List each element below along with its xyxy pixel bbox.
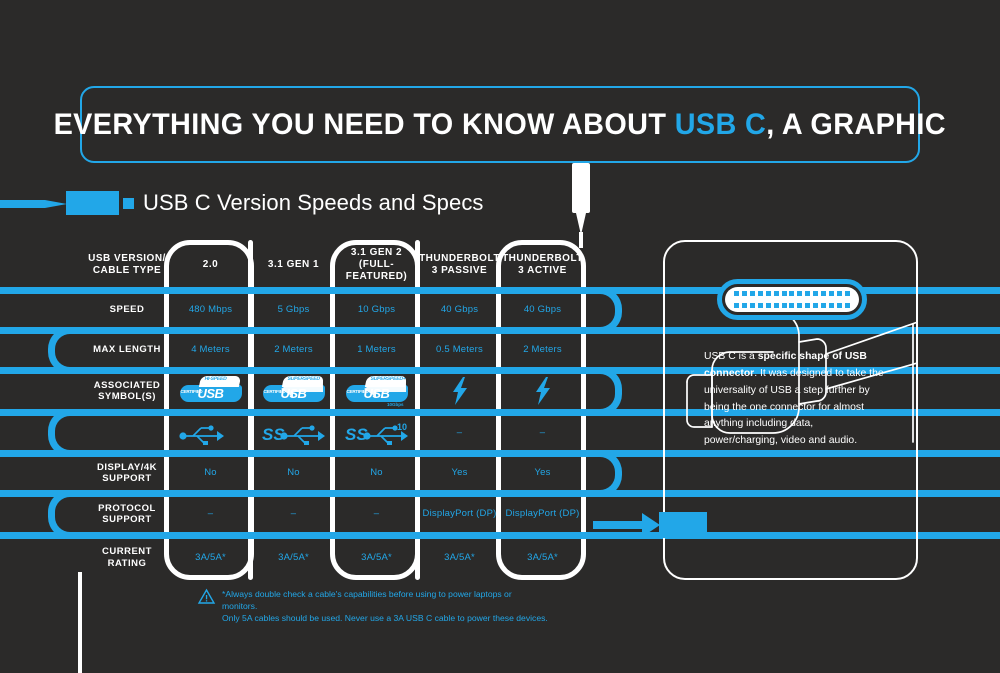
cell-value-6-1-line: 3A/5A*: [278, 552, 309, 563]
footnote: *Always double check a cable's capabilit…: [198, 588, 548, 625]
cell-value-4-2-line: No: [370, 467, 383, 478]
logo-wordmark: USB: [198, 386, 224, 401]
cell-value-5-4-line: DisplayPort (DP): [506, 508, 580, 519]
cell-value-1-3-line: 0.5 Meters: [436, 344, 483, 355]
logo-arrow: [346, 380, 408, 402]
row-header-4-line: SUPPORT: [102, 473, 151, 484]
cell-value-4-0: No: [169, 453, 252, 493]
row-header-2-line: SYMBOL(S): [98, 391, 156, 402]
cell-value-1-0-line: 4 Meters: [191, 344, 230, 355]
trident-svg: SS: [260, 421, 328, 445]
row-header-5-line: PROTOCOL: [98, 503, 156, 514]
cell-symbol-1: SUPERSPEEDCERTIFIEDUSB: [252, 370, 335, 412]
cell-value-6-0: 3A/5A*: [169, 535, 252, 580]
usb-c-port-pins-bottom: [734, 303, 850, 308]
usb-c-pin: [734, 291, 739, 296]
usb-c-pin: [774, 303, 779, 308]
usb-c-pin: [805, 291, 810, 296]
usb-c-pin: [774, 291, 779, 296]
column-header-0-line: 2.0: [203, 259, 218, 271]
cell-symbol-2: SUPERSPEED+CERTIFIEDUSB10Gbps: [335, 370, 418, 412]
cell-value-4-1: No: [252, 453, 335, 493]
cable-loop-right: [582, 450, 622, 497]
cell-value-6-0-line: 3A/5A*: [195, 552, 226, 563]
row-header-3: [85, 412, 169, 453]
cable-wire-icon: [0, 200, 45, 208]
cell-value-0-1: 5 Gbps: [252, 290, 335, 330]
column-header-3: THUNDERBOLT3 PASSIVE: [418, 240, 501, 290]
cell-value-5-3-line: DisplayPort (DP): [423, 508, 497, 519]
page-title: EVERYTHING YOU NEED TO KNOW ABOUT USB C,…: [54, 108, 946, 142]
cell-value-6-2: 3A/5A*: [335, 535, 418, 580]
row-header-5-line: SUPPORT: [102, 514, 151, 525]
usb-superspeed-logo: SUPERSPEEDCERTIFIEDUSB: [263, 376, 325, 406]
row-header-2-line: ASSOCIATED: [94, 380, 161, 391]
cell-value-3-3: –: [418, 412, 501, 453]
cell-value-1-2-line: 1 Meters: [357, 344, 396, 355]
logo-arrow: [263, 380, 325, 402]
bolt-svg: [533, 377, 553, 405]
cell-value-4-1-line: No: [287, 467, 300, 478]
cable-loop-left: [48, 409, 88, 457]
title-highlight-usb-c: USB C: [675, 108, 767, 141]
cable-taper-icon: [45, 200, 67, 208]
panel-cable-taper-icon: [642, 513, 660, 537]
cable-loop-right: [582, 287, 622, 334]
row-header-5: PROTOCOLSUPPORT: [85, 493, 169, 535]
cable-plug-icon: [66, 191, 119, 215]
column-header-0: 2.0: [169, 240, 252, 290]
column-header-4: THUNDERBOLT3 ACTIVE: [501, 240, 584, 290]
cell-value-5-1: –: [252, 493, 335, 535]
cell-value-0-4-line: 40 Gbps: [524, 304, 561, 315]
cell-symbol-0: HI-SPEEDCERTIFIEDUSB: [169, 370, 252, 412]
bottom-left-cable-wire-icon: [78, 572, 82, 673]
usb-ss-trident-icon: SS: [252, 412, 335, 453]
svg-text:10: 10: [397, 422, 407, 432]
usb-c-pin: [789, 291, 794, 296]
usb-c-pin: [813, 291, 818, 296]
thunderbolt-bolt-icon: [501, 370, 584, 412]
usb-hispeed-certified-logo: HI-SPEEDCERTIFIEDUSB: [180, 376, 242, 406]
cell-value-0-3: 40 Gbps: [418, 290, 501, 330]
panel-cable-plug-icon: [659, 512, 707, 538]
column-header-3-line: THUNDERBOLT: [419, 253, 500, 265]
desc-part-2: . It was designed to take the universali…: [704, 368, 884, 446]
cell-value-4-4-line: Yes: [534, 467, 550, 478]
trident-svg: SS10: [343, 421, 411, 445]
usb-c-pin: [805, 303, 810, 308]
usb-c-pin: [813, 303, 818, 308]
panel-cable-wire-icon: [593, 521, 643, 529]
usb-c-pin: [821, 291, 826, 296]
title-part-before: EVERYTHING YOU NEED TO KNOW ABOUT: [54, 108, 675, 141]
row-header-2: ASSOCIATEDSYMBOL(S): [85, 370, 169, 412]
top-cable-plug-icon: [572, 163, 590, 213]
section-heading: USB C Version Speeds and Specs: [0, 183, 484, 223]
usb-c-pin: [750, 291, 755, 296]
row-header-0-line: SPEED: [110, 304, 145, 315]
cell-value-6-3: 3A/5A*: [418, 535, 501, 580]
usb-c-pin: [758, 303, 763, 308]
desc-part-1: USB C is a: [704, 351, 758, 362]
table-corner-header-line: USB VERSION/: [88, 253, 166, 265]
cell-value-4-4: Yes: [501, 453, 584, 493]
column-header-2-line: (FULL-FEATURED): [335, 259, 418, 283]
row-header-6-line: RATING: [108, 558, 147, 569]
usb-c-pin: [782, 303, 787, 308]
usb-trident-icon: [169, 412, 252, 453]
column-header-1-line: 3.1 GEN 1: [268, 259, 319, 271]
row-header-1-line: MAX LENGTH: [93, 344, 161, 355]
usb-c-pin: [829, 303, 834, 308]
specs-table: USB VERSION/CABLE TYPE2.03.1 GEN 13.1 GE…: [85, 240, 615, 580]
cell-value-6-4-line: 3A/5A*: [527, 552, 558, 563]
logo-sub-text: 10Gbps: [387, 402, 404, 407]
usb-c-pin: [750, 303, 755, 308]
usb-c-pin: [821, 303, 826, 308]
cell-value-5-3: DisplayPort (DP): [418, 493, 501, 535]
cell-value-4-3: Yes: [418, 453, 501, 493]
title-banner: EVERYTHING YOU NEED TO KNOW ABOUT USB C,…: [80, 86, 920, 163]
trident-svg: [177, 421, 245, 445]
column-header-4-line: THUNDERBOLT: [502, 253, 583, 265]
footnote-line-1: *Always double check a cable's capabilit…: [222, 589, 512, 611]
usb-c-pin: [734, 303, 739, 308]
usb-c-pin: [766, 303, 771, 308]
row-header-1: MAX LENGTH: [85, 330, 169, 370]
usb-superspeed-10gbps-logo: SUPERSPEED+CERTIFIEDUSB10Gbps: [346, 376, 408, 406]
footnote-text: *Always double check a cable's capabilit…: [222, 588, 548, 625]
row-header-6-line: CURRENT: [102, 546, 152, 557]
cable-loop-right: [582, 367, 622, 416]
cell-value-6-4: 3A/5A*: [501, 535, 584, 580]
column-header-2-line: 3.1 GEN 2: [351, 247, 402, 259]
usb-c-pin: [766, 291, 771, 296]
cell-value-5-1-line: –: [291, 508, 296, 519]
row-header-0: SPEED: [85, 290, 169, 330]
warning-triangle-icon: [198, 589, 215, 604]
cell-value-0-1-line: 5 Gbps: [278, 304, 310, 315]
row-header-4-line: DISPLAY/4K: [97, 462, 157, 473]
usb-c-pin: [845, 303, 850, 308]
usb-c-pin: [845, 291, 850, 296]
usb-c-pin: [789, 303, 794, 308]
cell-value-4-0-line: No: [204, 467, 217, 478]
cell-value-6-2-line: 3A/5A*: [361, 552, 392, 563]
usb-c-pin: [742, 291, 747, 296]
row-header-4: DISPLAY/4KSUPPORT: [85, 453, 169, 493]
cell-value-3-4-line: –: [540, 427, 545, 438]
usb-c-pin: [782, 291, 787, 296]
cell-value-4-3-line: Yes: [451, 467, 467, 478]
row-header-6: CURRENTRATING: [85, 535, 169, 580]
cell-value-3-4: –: [501, 412, 584, 453]
cell-value-5-4: DisplayPort (DP): [501, 493, 584, 535]
logo-banner-text: HI-SPEED: [203, 377, 226, 383]
cell-value-5-2: –: [335, 493, 418, 535]
cell-value-0-3-line: 40 Gbps: [441, 304, 478, 315]
cell-value-5-2-line: –: [374, 508, 379, 519]
cell-value-5-0-line: –: [208, 508, 213, 519]
cable-tip-icon: [123, 198, 134, 209]
cell-value-1-3: 0.5 Meters: [418, 330, 501, 370]
cell-value-6-1: 3A/5A*: [252, 535, 335, 580]
column-header-2: 3.1 GEN 2(FULL-FEATURED): [335, 240, 418, 290]
usb-c-pin: [797, 291, 802, 296]
panel-description: USB C is a specific shape of USB connect…: [704, 349, 889, 450]
column-header-4-line: 3 ACTIVE: [518, 265, 567, 277]
cell-value-1-1-line: 2 Meters: [274, 344, 313, 355]
usb-c-port-pins-top: [734, 291, 850, 296]
cell-value-1-4-line: 2 Meters: [523, 344, 562, 355]
usb-c-pin: [829, 291, 834, 296]
cell-value-1-2: 1 Meters: [335, 330, 418, 370]
cell-value-6-3-line: 3A/5A*: [444, 552, 475, 563]
usb-c-pin: [742, 303, 747, 308]
cell-value-0-0-line: 480 Mbps: [189, 304, 232, 315]
cell-value-0-0: 480 Mbps: [169, 290, 252, 330]
cell-value-1-1: 2 Meters: [252, 330, 335, 370]
cell-value-5-0: –: [169, 493, 252, 535]
cell-value-3-3-line: –: [457, 427, 462, 438]
usb-c-pin: [797, 303, 802, 308]
cell-value-0-4: 40 Gbps: [501, 290, 584, 330]
cable-loop-left: [48, 327, 88, 374]
cell-value-1-4: 2 Meters: [501, 330, 584, 370]
cell-value-4-2: No: [335, 453, 418, 493]
usb-c-pin: [837, 291, 842, 296]
cell-value-0-2-line: 10 Gbps: [358, 304, 395, 315]
column-header-3-line: 3 PASSIVE: [432, 265, 487, 277]
table-corner-header-line: CABLE TYPE: [93, 265, 161, 277]
usb-ss-10-trident-icon: SS10: [335, 412, 418, 453]
table-corner-header: USB VERSION/CABLE TYPE: [85, 240, 169, 290]
thunderbolt-bolt-icon: [418, 370, 501, 412]
bolt-svg: [450, 377, 470, 405]
usb-c-pin: [837, 303, 842, 308]
footnote-line-2: Only 5A cables should be used. Never use…: [222, 613, 548, 623]
cell-value-1-0: 4 Meters: [169, 330, 252, 370]
usb-c-pin: [758, 291, 763, 296]
section-heading-label: USB C Version Speeds and Specs: [143, 190, 484, 216]
cable-loop-left: [48, 490, 88, 539]
column-header-1: 3.1 GEN 1: [252, 240, 335, 290]
usb-c-port-icon: [717, 279, 867, 320]
cell-value-0-2: 10 Gbps: [335, 290, 418, 330]
title-part-after: , A GRAPHIC: [766, 108, 946, 141]
